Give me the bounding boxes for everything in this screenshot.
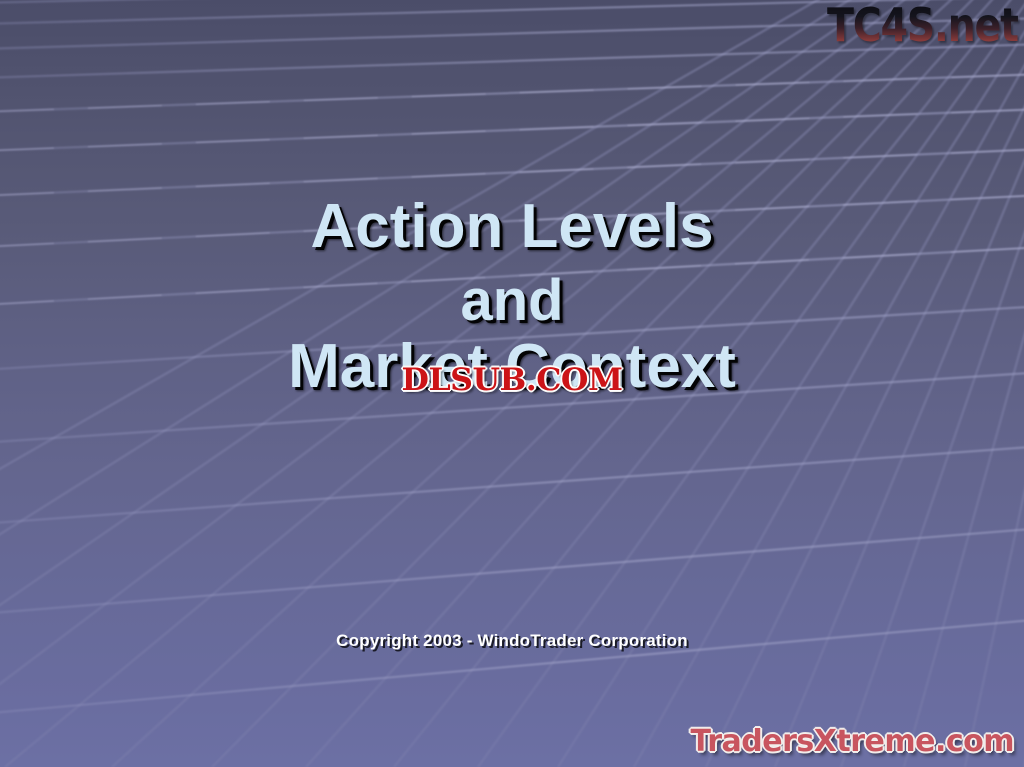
watermark-dlsub-com: DLSUB.COM (402, 362, 623, 398)
watermark-tc4s-net: TC4S.net (827, 0, 1018, 52)
page-title-line-1: Action Levels (0, 196, 1024, 258)
page-title-line-2: and (0, 272, 1024, 330)
copyright-notice: Copyright 2003 - WindoTrader Corporation (0, 631, 1024, 651)
presentation-slide: TC4S.net Action Levels and Market Contex… (0, 0, 1024, 767)
watermark-tradersxtreme-com: TradersXtreme.com (691, 724, 1014, 759)
